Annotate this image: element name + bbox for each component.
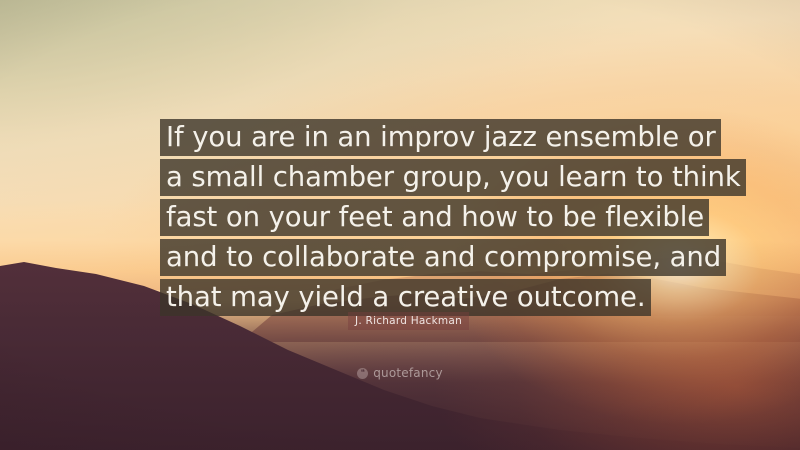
quote-line: fast on your feet and how to be flexible xyxy=(160,199,709,236)
quote-line: a small chamber group, you learn to thin… xyxy=(160,159,746,196)
quote-poster: If you are in an improv jazz ensemble or… xyxy=(0,0,800,450)
quote-line: If you are in an improv jazz ensemble or xyxy=(160,119,721,156)
quote-line: that may yield a creative outcome. xyxy=(160,279,651,316)
quote-text-block: If you are in an improv jazz ensemble or… xyxy=(160,119,660,316)
quote-mark-icon: ❝ xyxy=(357,368,368,379)
quote-author: J. Richard Hackman xyxy=(348,312,469,330)
quote-line: and to collaborate and compromise, and xyxy=(160,239,726,276)
watermark-wordmark: quotefancy xyxy=(373,366,443,380)
watermark: ❝ quotefancy xyxy=(0,366,800,380)
